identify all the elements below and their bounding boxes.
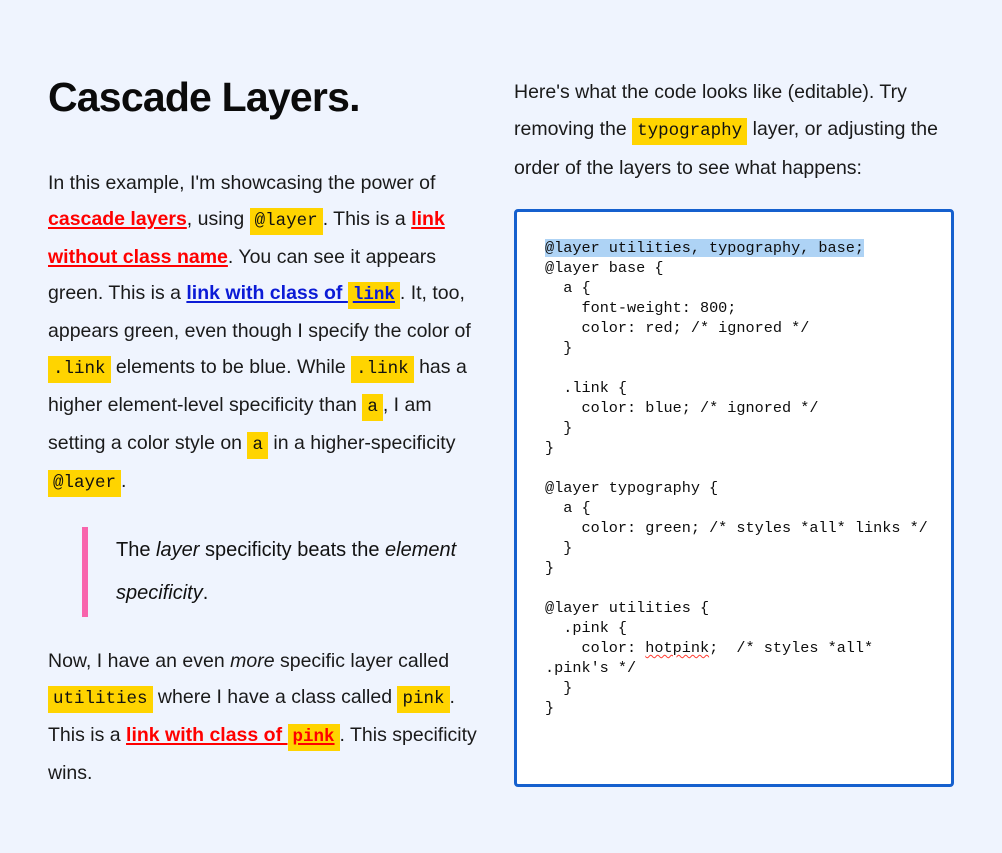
code-chip-dot-link-2: .link — [351, 356, 414, 383]
text-fragment: . — [121, 470, 126, 492]
callout-blockquote: The layer specificity beats the element … — [82, 527, 488, 617]
blockquote-text: The layer specificity beats the element … — [116, 529, 488, 615]
link-label: link with class of — [126, 724, 287, 746]
text-fragment: specific layer called — [275, 650, 450, 672]
page-title: Cascade Layers. — [48, 74, 488, 121]
link-with-class-of-pink[interactable]: link with class of pink — [126, 724, 339, 746]
code-chip-typography: typography — [632, 118, 747, 145]
code-chip-a-2: a — [247, 432, 268, 459]
text-fragment: elements to be blue. While — [111, 356, 352, 378]
text-fragment: . — [203, 582, 209, 604]
code-misspelled-word[interactable]: hotpink — [645, 639, 709, 657]
utilities-paragraph: Now, I have an even more specific layer … — [48, 643, 488, 791]
text-fragment: , using — [187, 208, 250, 230]
right-column: Here's what the code looks like (editabl… — [514, 62, 954, 853]
code-chip-pink: pink — [397, 686, 449, 713]
code-selected-line[interactable]: @layer utilities, typography, base; — [545, 239, 864, 257]
link-with-class-of-link[interactable]: link with class of link — [186, 282, 399, 304]
code-chip-utilities: utilities — [48, 686, 153, 713]
intro-paragraph: In this example, I'm showcasing the powe… — [48, 165, 488, 501]
code-editor-content[interactable]: @layer utilities, typography, base; @lay… — [545, 238, 929, 718]
code-chip-at-layer: @layer — [250, 208, 323, 235]
link-cascade-layers[interactable]: cascade layers — [48, 208, 187, 230]
code-chip-pink-link: pink — [288, 724, 340, 751]
code-chip-dot-link-1: .link — [48, 356, 111, 383]
text-fragment: In this example, I'm showcasing the powe… — [48, 172, 435, 194]
text-fragment: specificity beats the — [199, 539, 385, 561]
page-root: Cascade Layers. In this example, I'm sho… — [0, 0, 1002, 853]
link-label: link with class of — [186, 282, 347, 304]
code-chip-a-1: a — [362, 394, 383, 421]
text-fragment: where I have a class called — [153, 686, 398, 708]
editor-intro-paragraph: Here's what the code looks like (editabl… — [514, 74, 954, 187]
code-chip-at-layer-2: @layer — [48, 470, 121, 497]
text-fragment: in a higher-specificity — [268, 432, 456, 454]
code-chip-link: link — [348, 282, 400, 309]
code-editor-panel[interactable]: @layer utilities, typography, base; @lay… — [514, 209, 954, 787]
left-column: Cascade Layers. In this example, I'm sho… — [48, 62, 488, 853]
text-fragment: The — [116, 539, 156, 561]
code-body-before-misspell[interactable]: @layer base { a { font-weight: 800; colo… — [545, 259, 928, 657]
emphasis-more: more — [230, 650, 274, 672]
text-fragment: . This is a — [323, 208, 412, 230]
emphasis-layer: layer — [156, 539, 199, 561]
text-fragment: Now, I have an even — [48, 650, 230, 672]
